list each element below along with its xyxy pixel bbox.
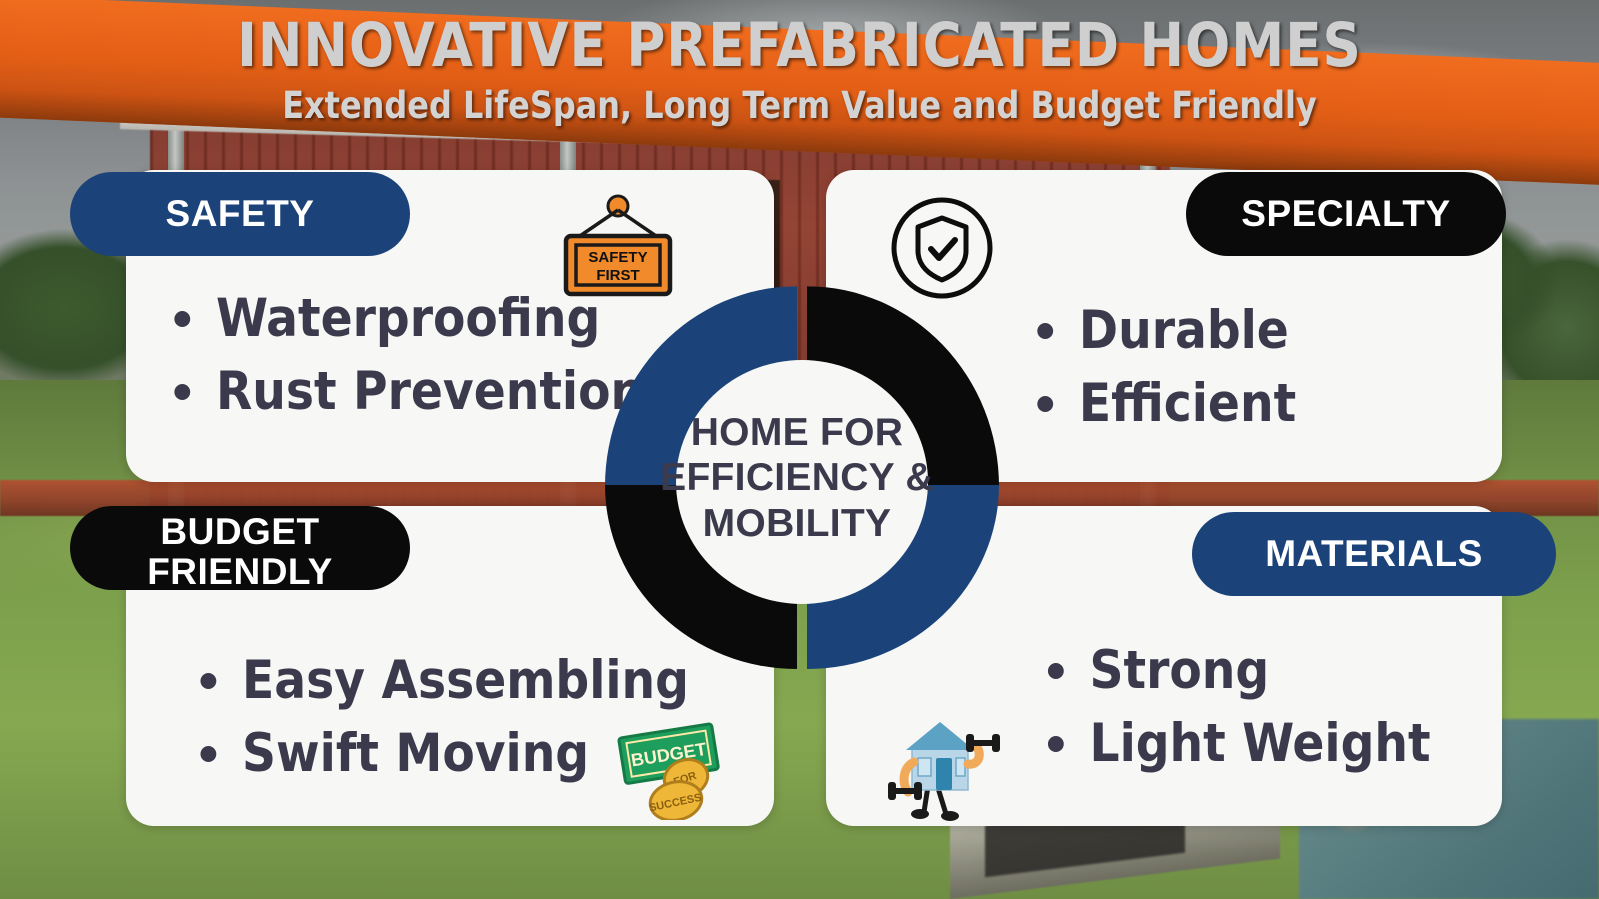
list-item: Light Weight — [1048, 707, 1431, 780]
bullet-dot-icon — [1037, 396, 1053, 412]
list-item: Efficient — [1037, 367, 1296, 440]
bullet-label: Durable — [1079, 294, 1289, 367]
bullet-dot-icon — [200, 746, 216, 762]
header: INNOVATIVE PREFABRICATED HOMES Extended … — [0, 14, 1599, 127]
bullet-label: Strong — [1090, 634, 1270, 707]
bullet-dot-icon — [174, 311, 190, 327]
bullet-dot-icon — [200, 673, 216, 689]
bullet-label: Waterproofing — [216, 282, 600, 355]
center-donut-chart — [578, 278, 1016, 678]
bullet-label: Light Weight — [1090, 707, 1431, 780]
page-subtitle: Extended LifeSpan, Long Term Value and B… — [32, 84, 1567, 127]
list-item: Strong — [1048, 634, 1431, 707]
bullet-dot-icon — [174, 384, 190, 400]
pill-specialty-label: SPECIALTY — [1241, 194, 1450, 234]
page-title: INNOVATIVE PREFABRICATED HOMES — [24, 14, 1575, 78]
safety-sign-line1: SAFETY — [588, 249, 647, 266]
list-item: Rust Prevention — [174, 355, 644, 428]
budget-money-icon: BUDGET FOR SUCCESS — [614, 716, 732, 820]
pill-materials-label: MATERIALS — [1265, 534, 1483, 574]
house-dumbbell-icon — [876, 700, 1004, 822]
bullet-list-specialty: Durable Efficient — [1036, 294, 1297, 440]
pill-safety-label: SAFETY — [166, 194, 315, 234]
bullet-list-materials: Strong Light Weight — [1046, 634, 1432, 780]
list-item: Durable — [1037, 294, 1296, 367]
donut-center-disc — [676, 360, 928, 604]
infographic-canvas: INNOVATIVE PREFABRICATED HOMES Extended … — [0, 0, 1599, 899]
bullet-label: Swift Moving — [242, 717, 589, 790]
bullet-list-safety: Waterproofing Rust Prevention — [172, 282, 647, 428]
bullet-dot-icon — [1048, 663, 1064, 679]
pill-safety[interactable]: SAFETY — [70, 172, 410, 256]
bullet-dot-icon — [1048, 736, 1064, 752]
pill-budget-label: BUDGET FRIENDLY — [70, 512, 410, 592]
bullet-label: Efficient — [1079, 367, 1296, 440]
pill-specialty[interactable]: SPECIALTY — [1186, 172, 1506, 256]
pill-materials[interactable]: MATERIALS — [1192, 512, 1556, 596]
pill-budget[interactable]: BUDGET FRIENDLY — [70, 506, 410, 590]
bullet-dot-icon — [1037, 323, 1053, 339]
